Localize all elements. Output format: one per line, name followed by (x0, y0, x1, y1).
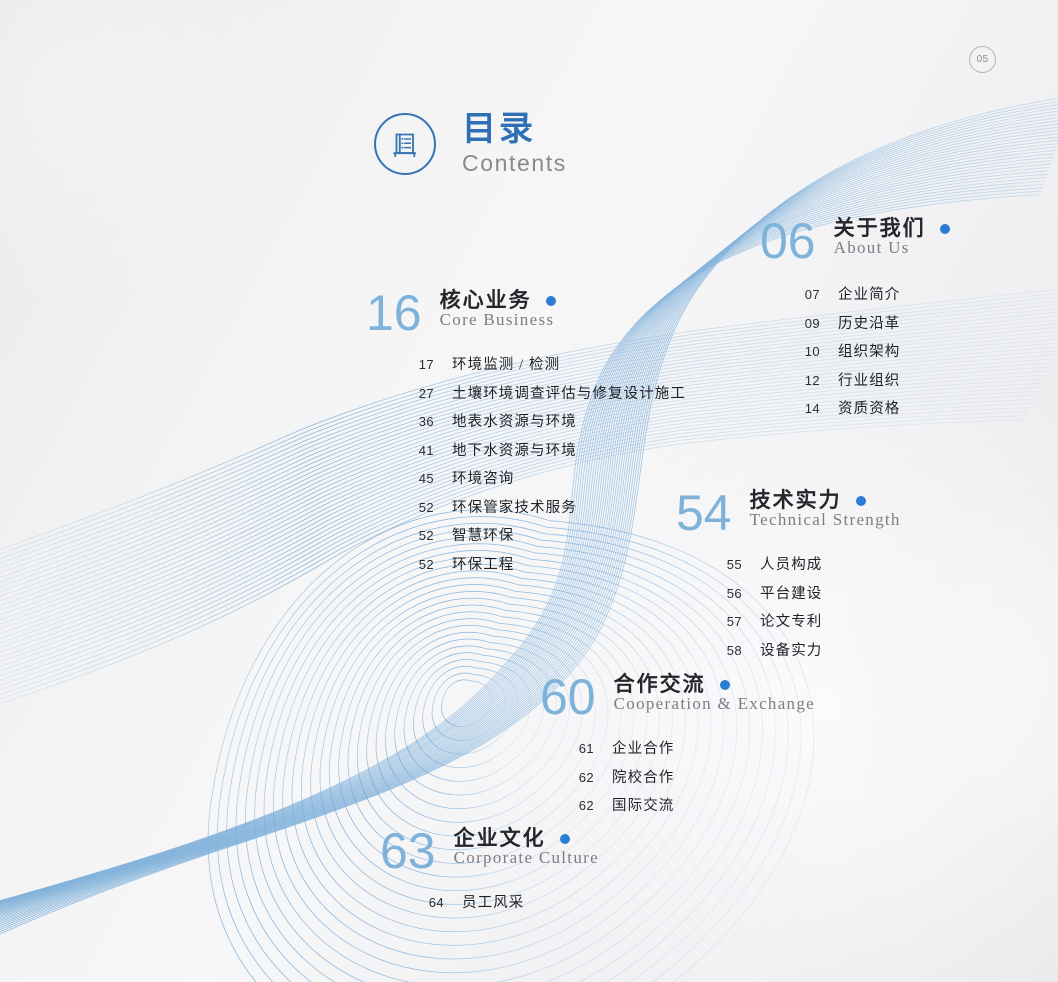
item-label: 环保工程 (452, 558, 514, 573)
page-number-badge: 05 (969, 46, 996, 73)
item-page-number: 41 (410, 444, 434, 457)
contents-document-icon (374, 113, 436, 175)
section-heading[interactable]: 63 企业文化 Corporate Culture (380, 826, 599, 876)
item-page-number: 58 (718, 644, 742, 657)
section-title-en: Technical Strength (750, 510, 901, 529)
section-page-number: 54 (676, 488, 732, 538)
item-label: 行业组织 (838, 374, 900, 389)
item-label: 组织架构 (838, 345, 900, 360)
section-title-cn: 关于我们 (834, 218, 926, 239)
item-page-number: 27 (410, 387, 434, 400)
item-label: 平台建设 (760, 587, 822, 602)
item-page-number: 17 (410, 358, 434, 371)
list-item[interactable]: 14 资质资格 (796, 402, 950, 417)
item-label: 论文专利 (760, 615, 822, 630)
section-bullet-dot (546, 296, 556, 306)
list-item[interactable]: 52 环保管家技术服务 (410, 501, 686, 516)
item-page-number: 52 (410, 501, 434, 514)
section-item-list: 55 人员构成 56 平台建设 57 论文专利 58 设备实力 (718, 558, 901, 658)
item-label: 土壤环境调查评估与修复设计施工 (452, 387, 686, 402)
item-label: 环保管家技术服务 (452, 501, 577, 516)
list-item[interactable]: 36 地表水资源与环境 (410, 415, 686, 430)
section-page-number: 16 (366, 288, 422, 338)
toc-title-en: Contents (462, 152, 567, 175)
item-label: 国际交流 (612, 799, 674, 814)
section-page-number: 63 (380, 826, 436, 876)
item-label: 院校合作 (612, 771, 674, 786)
section-item-list: 07 企业简介 09 历史沿革 10 组织架构 12 行业组织 14 资质资格 (796, 288, 950, 417)
list-item[interactable]: 41 地下水资源与环境 (410, 444, 686, 459)
toc-title-group: 目录 Contents (462, 112, 567, 175)
list-item[interactable]: 61 企业合作 (570, 742, 815, 757)
item-page-number: 62 (570, 799, 594, 812)
item-page-number: 10 (796, 345, 820, 358)
list-item[interactable]: 64 员工风采 (420, 896, 599, 911)
list-item[interactable]: 62 院校合作 (570, 771, 815, 786)
item-label: 历史沿革 (838, 317, 900, 332)
list-item[interactable]: 57 论文专利 (718, 615, 901, 630)
section-title-cn: 核心业务 (440, 290, 532, 311)
list-item[interactable]: 62 国际交流 (570, 799, 815, 814)
section-title-cn: 企业文化 (454, 828, 546, 849)
list-item[interactable]: 52 环保工程 (410, 558, 686, 573)
toc-section-corporate-culture: 63 企业文化 Corporate Culture 64 员工风采 (380, 826, 599, 925)
section-item-list: 61 企业合作 62 院校合作 62 国际交流 (570, 742, 815, 814)
toc-page: 05 (0, 0, 1058, 982)
section-bullet-dot (940, 224, 950, 234)
toc-section-cooperation-exchange: 60 合作交流 Cooperation & Exchange 61 企业合作 6… (540, 672, 815, 828)
list-item[interactable]: 10 组织架构 (796, 345, 950, 360)
list-item[interactable]: 56 平台建设 (718, 587, 901, 602)
item-label: 员工风采 (462, 896, 524, 911)
item-label: 设备实力 (760, 644, 822, 659)
item-page-number: 56 (718, 587, 742, 600)
toc-section-technical-strength: 54 技术实力 Technical Strength 55 人员构成 56 平台… (676, 488, 901, 672)
item-page-number: 61 (570, 742, 594, 755)
list-item[interactable]: 58 设备实力 (718, 644, 901, 659)
section-item-list: 64 员工风采 (420, 896, 599, 911)
section-bullet-dot (720, 680, 730, 690)
section-title-en: About Us (834, 238, 910, 257)
section-title-en: Corporate Culture (454, 848, 599, 867)
list-item[interactable]: 52 智慧环保 (410, 529, 686, 544)
item-label: 地下水资源与环境 (452, 444, 577, 459)
section-title-en: Core Business (440, 310, 555, 329)
list-item[interactable]: 17 环境监测 / 检测 (410, 358, 686, 373)
list-item[interactable]: 09 历史沿革 (796, 317, 950, 332)
item-label: 资质资格 (838, 402, 900, 417)
item-label: 环境监测 / 检测 (452, 358, 560, 373)
toc-section-about-us: 06 关于我们 About Us 07 企业简介 09 历史沿革 10 组织架构 (760, 216, 950, 431)
section-item-list: 17 环境监测 / 检测 27 土壤环境调查评估与修复设计施工 36 地表水资源… (410, 358, 686, 572)
section-heading[interactable]: 54 技术实力 Technical Strength (676, 488, 901, 538)
item-page-number: 07 (796, 288, 820, 301)
section-title-cn: 技术实力 (750, 490, 842, 511)
section-title-en: Cooperation & Exchange (614, 694, 815, 713)
item-page-number: 45 (410, 472, 434, 485)
section-page-number: 60 (540, 672, 596, 722)
item-page-number: 57 (718, 615, 742, 628)
section-bullet-dot (560, 834, 570, 844)
item-page-number: 62 (570, 771, 594, 784)
section-bullet-dot (856, 496, 866, 506)
item-page-number: 52 (410, 558, 434, 571)
item-page-number: 55 (718, 558, 742, 571)
item-label: 企业简介 (838, 288, 900, 303)
list-item[interactable]: 12 行业组织 (796, 374, 950, 389)
section-page-number: 06 (760, 216, 816, 266)
item-label: 智慧环保 (452, 529, 514, 544)
toc-header: 目录 Contents (374, 112, 567, 175)
item-label: 环境咨询 (452, 472, 514, 487)
list-item[interactable]: 55 人员构成 (718, 558, 901, 573)
item-label: 企业合作 (612, 742, 674, 757)
list-item[interactable]: 27 土壤环境调查评估与修复设计施工 (410, 387, 686, 402)
section-heading[interactable]: 60 合作交流 Cooperation & Exchange (540, 672, 815, 722)
section-heading[interactable]: 16 核心业务 Core Business (366, 288, 686, 338)
item-page-number: 36 (410, 415, 434, 428)
list-item[interactable]: 45 环境咨询 (410, 472, 686, 487)
item-label: 地表水资源与环境 (452, 415, 577, 430)
item-page-number: 52 (410, 529, 434, 542)
toc-section-core-business: 16 核心业务 Core Business 17 环境监测 / 检测 27 土壤… (366, 288, 686, 586)
item-page-number: 14 (796, 402, 820, 415)
item-page-number: 12 (796, 374, 820, 387)
item-page-number: 64 (420, 896, 444, 909)
item-label: 人员构成 (760, 558, 822, 573)
list-item[interactable]: 07 企业简介 (796, 288, 950, 303)
section-title-cn: 合作交流 (614, 674, 706, 695)
section-heading[interactable]: 06 关于我们 About Us (760, 216, 950, 266)
toc-title-cn: 目录 (462, 112, 567, 146)
item-page-number: 09 (796, 317, 820, 330)
